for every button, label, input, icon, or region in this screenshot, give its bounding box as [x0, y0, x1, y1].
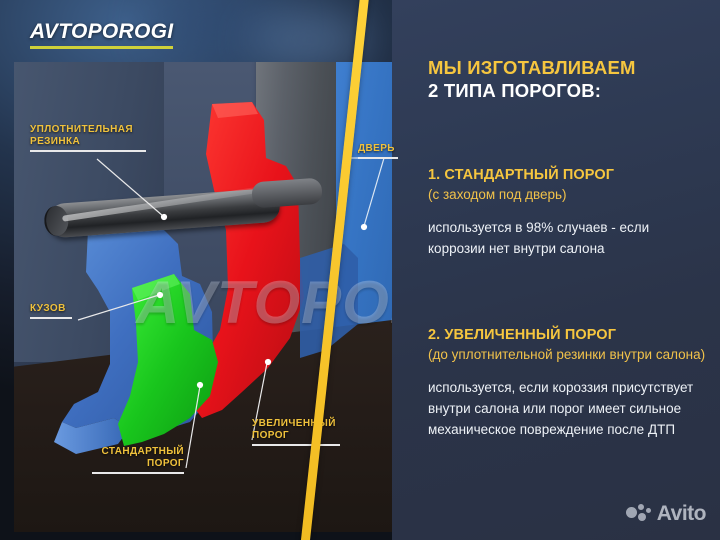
rubber-seal-end: [251, 178, 323, 209]
callout-seal-line2: РЕЗИНКА: [30, 136, 146, 148]
section-standard-body: используется в 98% случаев - если корроз…: [428, 217, 708, 259]
callout-standard-underline: [92, 472, 184, 474]
callout-extended-underline: [252, 444, 340, 446]
brand-logo-text: AVTOPOROGI: [30, 20, 173, 44]
section-standard-subtitle: (с заходом под дверь): [428, 185, 708, 204]
callout-standard-line1: СТАНДАРТНЫЙ: [92, 446, 184, 458]
avito-wordmark: Avito: [657, 502, 706, 526]
avito-dots-icon: [626, 504, 652, 524]
callout-extended: УВЕЛИЧЕННЫЙ ПОРОГ: [252, 418, 340, 446]
callout-door: ДВЕРЬ: [358, 143, 398, 159]
callout-door-line1: ДВЕРЬ: [358, 143, 398, 155]
brand-logo-underline: [30, 46, 173, 49]
callout-seal: УПЛОТНИТЕЛЬНАЯ РЕЗИНКА: [30, 124, 146, 152]
callout-seal-line1: УПЛОТНИТЕЛЬНАЯ: [30, 124, 146, 136]
section-extended: 2. УВЕЛИЧЕННЫЙ ПОРОГ (до уплотнительной …: [428, 326, 720, 440]
brand-logo[interactable]: AVTOPOROGI: [30, 20, 173, 49]
callout-standard: СТАНДАРТНЫЙ ПОРОГ: [92, 446, 184, 474]
section-extended-subtitle: (до уплотнительной резинки внутри салона…: [428, 345, 720, 364]
headline-line-2: 2 ТИПА ПОРОГОВ:: [428, 79, 700, 102]
section-extended-title: 2. УВЕЛИЧЕННЫЙ ПОРОГ: [428, 326, 720, 345]
avito-watermark: Avito: [626, 502, 706, 526]
callout-extended-line2: ПОРОГ: [252, 430, 340, 442]
section-standard-title: 1. СТАНДАРТНЫЙ ПОРОГ: [428, 166, 708, 185]
headline: МЫ ИЗГОТАВЛИВАЕМ 2 ТИПА ПОРОГОВ:: [428, 56, 700, 102]
section-standard: 1. СТАНДАРТНЫЙ ПОРОГ (с заходом под двер…: [428, 166, 708, 259]
headline-line-1: МЫ ИЗГОТАВЛИВАЕМ: [428, 56, 700, 79]
callout-body-line1: КУЗОВ: [30, 303, 72, 315]
callout-body-underline: [30, 317, 72, 319]
callout-standard-line2: ПОРОГ: [92, 458, 184, 470]
section-extended-body: используется, если короззия присутствует…: [428, 377, 720, 440]
poster-root: УПЛОТНИТЕЛЬНАЯ РЕЗИНКА ДВЕРЬ КУЗОВ СТАНД…: [0, 0, 720, 540]
callout-body: КУЗОВ: [30, 303, 72, 319]
headline-block: МЫ ИЗГОТАВЛИВАЕМ 2 ТИПА ПОРОГОВ:: [392, 0, 720, 102]
callout-extended-line1: УВЕЛИЧЕННЫЙ: [252, 418, 340, 430]
callout-door-underline: [358, 157, 398, 159]
callout-seal-underline: [30, 150, 146, 152]
info-pane: МЫ ИЗГОТАВЛИВАЕМ 2 ТИПА ПОРОГОВ: 1. СТАН…: [392, 0, 720, 540]
